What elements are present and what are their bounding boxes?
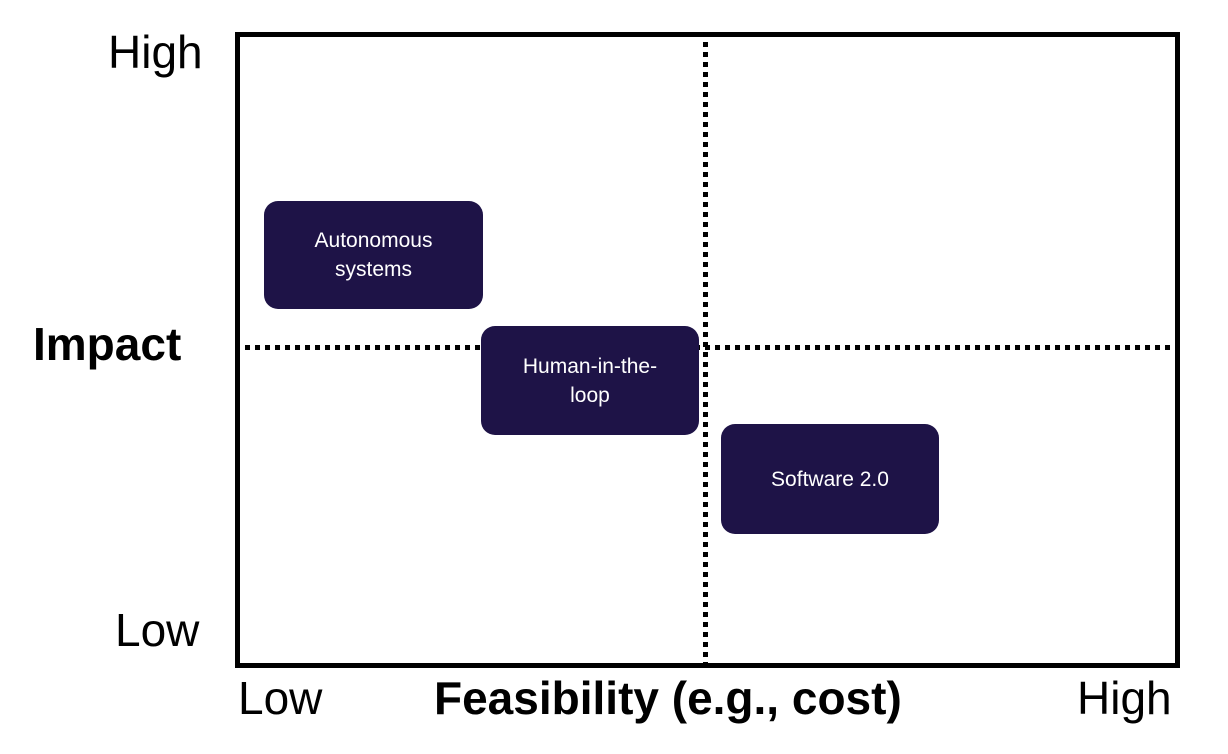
x-axis-tick-label-low: Low — [238, 672, 322, 724]
item-box-software-2-0[interactable]: Software 2.0 — [721, 424, 939, 534]
item-box-autonomous-systems[interactable]: Autonomous systems — [264, 201, 483, 309]
item-box-label: Autonomous systems — [274, 226, 473, 284]
item-box-label: Human-in-the- loop — [491, 352, 689, 410]
item-box-human-in-the-loop[interactable]: Human-in-the- loop — [481, 326, 699, 435]
quadrant-divider-vertical — [703, 32, 708, 668]
item-box-label: Software 2.0 — [731, 465, 929, 494]
y-axis-tick-label-low: Low — [115, 604, 199, 656]
x-axis-title: Feasibility (e.g., cost) — [434, 672, 902, 724]
y-axis-title: Impact — [33, 318, 181, 370]
y-axis-tick-label-high: High — [108, 26, 203, 78]
quadrant-divider-horizontal — [235, 345, 1180, 350]
chart-canvas: Autonomous systems Human-in-the- loop So… — [0, 0, 1228, 754]
x-axis-tick-label-high: High — [1077, 672, 1172, 724]
